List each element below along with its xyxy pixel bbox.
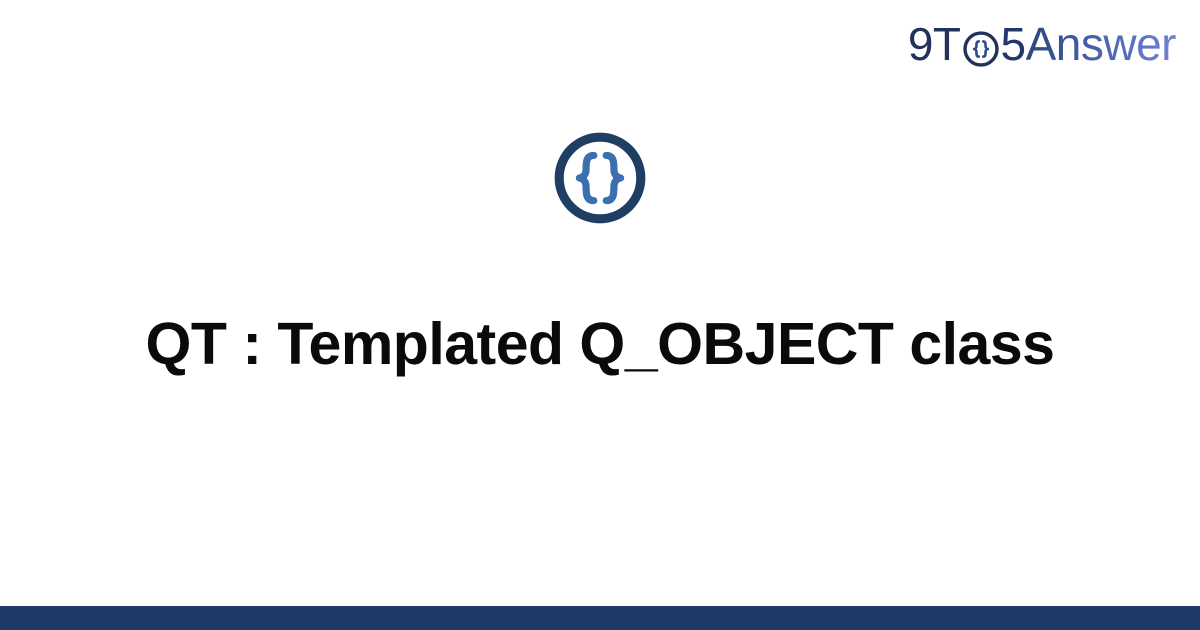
brand-text-middle: 5 xyxy=(1001,21,1026,67)
brand-text-prefix: 9T xyxy=(908,21,961,67)
brand-text-suffix: Answer xyxy=(1026,21,1176,67)
brand-logo[interactable]: 9T 5 Answer xyxy=(908,16,1176,72)
footer-bar xyxy=(0,606,1200,630)
brand-braces-circle-icon xyxy=(962,30,1000,68)
page-root: 9T 5 Answer QT : Templated Q_OBJECT clas… xyxy=(0,0,1200,630)
page-title: QT : Templated Q_OBJECT class xyxy=(0,312,1200,377)
braces-circle-icon xyxy=(552,130,648,226)
